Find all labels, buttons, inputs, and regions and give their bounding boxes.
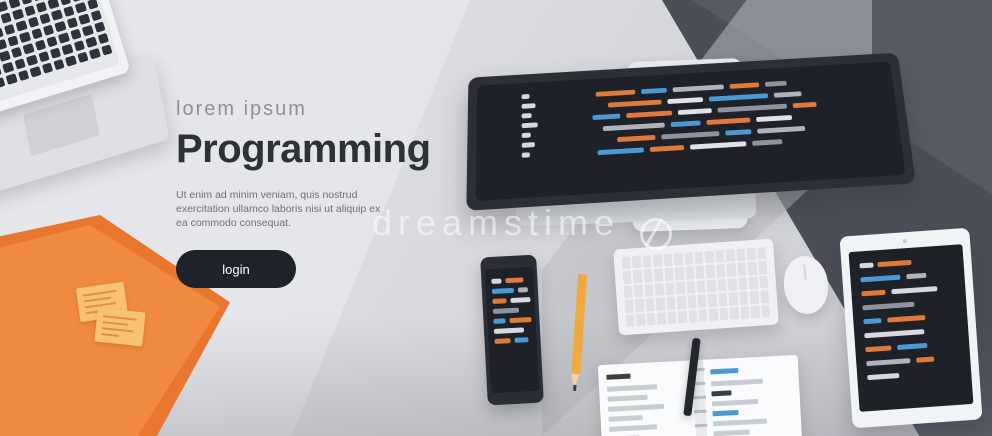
code-line (861, 290, 885, 297)
keyboard-key (646, 298, 655, 311)
keyboard-key (739, 292, 748, 305)
keyboard-key (730, 307, 739, 320)
keyboard-key (740, 306, 749, 319)
keyboard-key (665, 282, 674, 295)
laptop-key (30, 66, 42, 77)
code-line (522, 103, 536, 109)
laptop-key (31, 28, 43, 39)
code-line (492, 298, 506, 304)
code-line (518, 287, 528, 293)
laptop-key (27, 17, 39, 28)
code-line (626, 111, 672, 119)
keyboard-key (708, 294, 717, 307)
code-line (661, 131, 719, 139)
laptop-key (60, 0, 72, 6)
keyboard-key (747, 248, 756, 261)
code-line (690, 141, 747, 149)
code-line (494, 327, 524, 334)
tablet (839, 228, 982, 429)
notebook-line (607, 395, 647, 402)
laptop-key (0, 12, 12, 23)
code-line (603, 123, 665, 132)
notebook-line (713, 419, 767, 427)
keyboard-key (728, 278, 737, 291)
keyboard-key (706, 265, 715, 278)
keyboard-key (635, 299, 644, 312)
notebook-line (606, 374, 630, 380)
hero-paragraph: Ut enim ad minim veniam, quis nostrud ex… (176, 188, 391, 230)
keyboard-key (751, 305, 760, 318)
code-line (709, 93, 769, 101)
smartphone (480, 255, 544, 406)
notebook-line (713, 429, 749, 436)
keyboard-key (729, 292, 738, 305)
laptop-key (36, 2, 48, 13)
laptop-key (0, 77, 6, 88)
code-line (673, 84, 724, 92)
code-line (641, 88, 667, 94)
code-line (916, 356, 934, 362)
code-line (667, 97, 703, 104)
laptop-key (0, 39, 7, 50)
notebook-line (711, 390, 731, 396)
code-line (678, 108, 712, 115)
keyboard-keys (622, 247, 771, 327)
code-line (887, 315, 925, 323)
keyboard-key (624, 285, 633, 298)
code-line (725, 129, 751, 135)
keyboard-key (750, 291, 759, 304)
code-line (493, 308, 519, 314)
code-line (860, 275, 900, 283)
code-line (863, 318, 881, 324)
keyboard-key (647, 313, 656, 326)
keyboard-key (645, 284, 654, 297)
keyboard-key (633, 270, 642, 283)
keyboard-key (684, 252, 693, 265)
laptop-key (14, 58, 26, 69)
keyboard-key (749, 277, 758, 290)
code-line (617, 135, 655, 142)
keyboard-key (736, 249, 745, 262)
smartphone-code-editor (485, 267, 539, 393)
code-line (671, 120, 701, 127)
code-line (859, 262, 873, 268)
laptop-key (6, 73, 18, 84)
keyboard-key (696, 266, 705, 279)
code-line (897, 343, 927, 350)
laptop-key (70, 29, 82, 40)
code-line (717, 104, 787, 113)
smartphone-screen (485, 267, 539, 393)
laptop-key (87, 0, 99, 10)
code-line (765, 81, 787, 87)
notebook-line (609, 415, 643, 422)
code-line (494, 338, 510, 344)
keyboard-key (632, 256, 641, 269)
laptop-key (26, 55, 38, 66)
keyboard-key (758, 261, 767, 274)
laptop-key (0, 50, 10, 61)
page-title: Programming (176, 127, 476, 172)
keyboard-key (719, 307, 728, 320)
code-line (891, 286, 937, 294)
keyboard-key (654, 269, 663, 282)
laptop-key (46, 36, 58, 47)
keyboard-key (757, 247, 766, 260)
laptop-key (19, 32, 31, 43)
laptop-key (89, 48, 101, 59)
keyboard-key (695, 251, 704, 264)
keyboard-key (675, 267, 684, 280)
keyboard-key (622, 257, 631, 270)
keyboard-key (667, 311, 676, 324)
keyboard-key (655, 283, 664, 296)
code-line (510, 297, 530, 303)
code-line (877, 260, 911, 267)
keyboard-key (760, 290, 769, 303)
notebook (598, 355, 802, 436)
code-line (522, 142, 535, 148)
keyboard-key (626, 314, 635, 327)
laptop-key (9, 0, 21, 9)
keyboard-key (636, 313, 645, 326)
laptop-key (77, 52, 89, 63)
keyboard-key (625, 300, 634, 313)
monitor-screen (476, 61, 906, 201)
notebook-line (711, 379, 763, 387)
laptop-key (16, 20, 28, 31)
laptop-key (78, 14, 90, 25)
code-line (491, 278, 501, 284)
keyboard-key (716, 264, 725, 277)
laptop-key (39, 13, 51, 24)
keyboard-key (643, 255, 652, 268)
code-line (650, 145, 684, 152)
keyboard-key (653, 254, 662, 267)
keyboard-key (705, 251, 714, 264)
laptop-key (85, 37, 97, 48)
keyboard-key (718, 293, 727, 306)
keyboard-key (748, 262, 757, 275)
laptop-key (48, 0, 60, 9)
code-line (596, 90, 636, 97)
laptop-key (23, 43, 35, 54)
watermark-logo-icon (640, 218, 672, 250)
laptop-key (7, 35, 19, 46)
code-line (597, 147, 644, 155)
laptop-key (90, 10, 102, 21)
hero-text-block: lorem ipsum Programming Ut enim ad minim… (176, 98, 476, 288)
tablet-screen (849, 244, 974, 412)
laptop-key (41, 63, 53, 74)
code-line (774, 91, 802, 97)
laptop-key (101, 44, 113, 55)
code-line (493, 318, 505, 324)
laptop-key (11, 47, 23, 58)
laptop-key (94, 21, 106, 32)
code-line (592, 114, 620, 120)
laptop-key (24, 5, 36, 16)
keyboard-key (656, 297, 665, 310)
laptop-key (34, 40, 46, 51)
keyboard-key (674, 253, 683, 266)
keyboard (613, 239, 779, 336)
laptop-key (65, 55, 77, 66)
code-line (757, 126, 805, 134)
monitor-code-editor (476, 61, 906, 201)
code-line (793, 102, 817, 108)
keyboard-key (663, 254, 672, 267)
notebook-line (712, 410, 738, 416)
keyboard-key (678, 310, 687, 323)
keyboard-key (686, 281, 695, 294)
keyboard-key (697, 280, 706, 293)
code-line (522, 94, 530, 99)
keyboard-key (657, 312, 666, 325)
keyboard-key (726, 249, 735, 262)
keyboard-key (759, 276, 768, 289)
code-line (752, 139, 782, 146)
code-line (862, 302, 914, 311)
laptop-key (50, 47, 62, 58)
code-line (505, 277, 523, 283)
code-line (706, 117, 750, 124)
laptop-key (67, 17, 79, 28)
desktop-monitor (466, 53, 916, 211)
code-line (608, 100, 662, 108)
laptop-key (53, 59, 65, 70)
laptop-key (38, 51, 50, 62)
laptop-key (18, 70, 30, 81)
keyboard-key (687, 295, 696, 308)
notebook-line (710, 368, 738, 374)
laptop-key (62, 44, 74, 55)
keyboard-key (634, 285, 643, 298)
laptop-key (0, 66, 2, 77)
keyboard-key (688, 310, 697, 323)
notebook-line (609, 424, 657, 432)
laptop-key (0, 1, 8, 12)
laptop-key (58, 32, 70, 43)
code-line (492, 288, 514, 294)
code-line (522, 133, 531, 138)
code-line (522, 152, 530, 157)
laptop-key (75, 2, 87, 13)
pencil-lead (573, 385, 576, 391)
code-line (865, 345, 891, 352)
keyboard-key (727, 264, 736, 277)
code-line (522, 122, 538, 128)
code-line (756, 115, 792, 122)
tablet-camera-icon (903, 239, 907, 243)
laptop-key (63, 6, 75, 17)
keyboard-key (709, 308, 718, 321)
keyboard-key (677, 296, 686, 309)
laptop-key (0, 28, 3, 39)
login-button[interactable]: login (176, 250, 296, 288)
keyboard-key (717, 279, 726, 292)
keyboard-key (737, 263, 746, 276)
laptop-key (20, 0, 32, 5)
keyboard-key (698, 295, 707, 308)
laptop-key (4, 24, 16, 35)
laptop-key (97, 33, 109, 44)
laptop-key (74, 40, 86, 51)
keyboard-key (699, 309, 708, 322)
keyboard-key (644, 269, 653, 282)
code-line (906, 273, 926, 279)
hero-eyebrow: lorem ipsum (176, 98, 476, 121)
laptop-key (2, 62, 14, 73)
keyboard-key (676, 282, 685, 295)
code-line (866, 358, 910, 366)
keyboard-key (761, 305, 770, 318)
code-line (867, 373, 899, 380)
keyboard-key (707, 279, 716, 292)
laptop-key (82, 25, 94, 36)
sticky-note-2 (94, 308, 145, 347)
code-line (514, 337, 528, 343)
code-line (522, 113, 532, 118)
keyboard-key (664, 268, 673, 281)
keyboard-key (715, 250, 724, 263)
laptop-key (43, 24, 55, 35)
notebook-line (712, 399, 758, 406)
notebook-line (607, 384, 657, 392)
notebook-line (608, 404, 664, 412)
keyboard-key (685, 267, 694, 280)
keyboard-key (666, 297, 675, 310)
laptop-key (51, 9, 63, 20)
laptop-key (12, 9, 24, 20)
keyboard-key (623, 271, 632, 284)
code-line (730, 82, 760, 88)
tablet-code-editor (849, 244, 974, 412)
laptop-key (55, 21, 67, 32)
keyboard-key (738, 277, 747, 290)
illustration-canvas: lorem ipsum Programming Ut enim ad minim… (0, 0, 992, 436)
code-line (509, 317, 531, 323)
code-line (864, 329, 924, 338)
